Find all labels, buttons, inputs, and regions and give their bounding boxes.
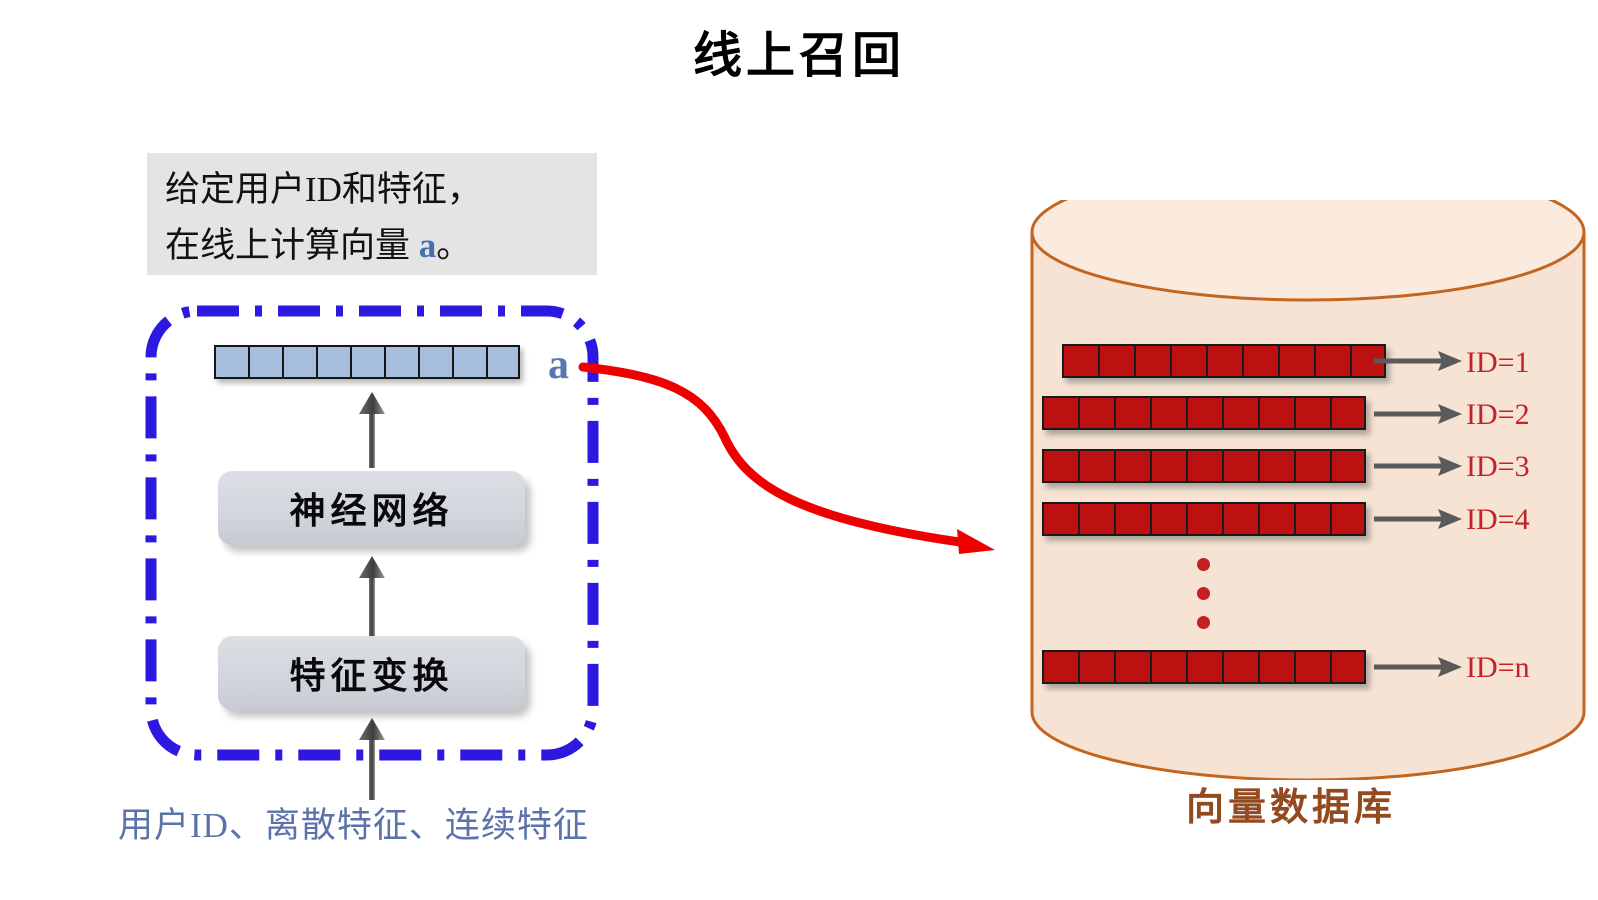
vector-cell xyxy=(1062,344,1098,378)
vector-cell xyxy=(248,345,282,379)
output-vector-label: a xyxy=(548,341,569,389)
vector-cell xyxy=(1222,449,1258,483)
vector-cell xyxy=(1150,396,1186,430)
vector-cell xyxy=(350,345,384,379)
output-vector-a xyxy=(214,345,520,379)
vector-cell xyxy=(1150,449,1186,483)
ellipsis-dot xyxy=(1197,587,1210,600)
feature-transform-label: 特征变换 xyxy=(289,647,453,699)
vector-cell xyxy=(1330,650,1366,684)
vector-cell xyxy=(418,345,452,379)
diagram-canvas: 线上召回 给定用户ID和特征， 在线上计算向量 a。 a xyxy=(0,0,1598,900)
vector-cell xyxy=(1114,396,1150,430)
ellipsis-dot xyxy=(1197,616,1210,629)
vector-cell xyxy=(214,345,248,379)
note-line-2-suffix: 。 xyxy=(436,226,471,265)
vector-cell xyxy=(1078,502,1114,536)
vector-cell xyxy=(1294,449,1330,483)
vector-cell xyxy=(282,345,316,379)
db-row-arrow xyxy=(1374,452,1464,480)
vector-cell xyxy=(1330,502,1366,536)
vector-cell xyxy=(1078,650,1114,684)
db-row-arrow xyxy=(1374,347,1464,375)
db-row-id: ID=3 xyxy=(1466,450,1530,484)
db-vector-row xyxy=(1042,650,1366,684)
vector-cell xyxy=(486,345,520,379)
ellipsis-dot xyxy=(1197,558,1210,571)
arrow-vector-to-database xyxy=(575,340,1005,570)
vector-cell xyxy=(1042,396,1078,430)
note-line-2: 在线上计算向量 a。 xyxy=(165,218,597,274)
vector-cell xyxy=(1042,502,1078,536)
vector-cell xyxy=(1330,449,1366,483)
vector-cell xyxy=(1098,344,1134,378)
vector-cell xyxy=(1150,502,1186,536)
db-row-id: ID=2 xyxy=(1466,398,1530,432)
db-row-id: ID=4 xyxy=(1466,503,1530,537)
vector-cell xyxy=(1186,396,1222,430)
vector-cell xyxy=(1258,650,1294,684)
note-line-2-prefix: 在线上计算向量 xyxy=(165,226,419,265)
vector-cell xyxy=(1186,650,1222,684)
note-vector-symbol: a xyxy=(419,226,437,265)
vector-cell xyxy=(1294,396,1330,430)
explanation-note: 给定用户ID和特征， 在线上计算向量 a。 xyxy=(147,153,597,275)
db-vector-row xyxy=(1042,502,1366,536)
vector-database-cylinder xyxy=(1018,200,1598,780)
vector-cell xyxy=(1150,650,1186,684)
db-rows-ellipsis xyxy=(1197,558,1213,645)
vector-cell xyxy=(1078,449,1114,483)
vector-cell xyxy=(1186,449,1222,483)
neural-network-label: 神经网络 xyxy=(289,482,453,534)
vector-cell xyxy=(1258,502,1294,536)
db-vector-row xyxy=(1042,449,1366,483)
vector-cell xyxy=(1134,344,1170,378)
vector-cell xyxy=(1222,396,1258,430)
db-vector-row xyxy=(1042,396,1366,430)
vector-cell xyxy=(316,345,350,379)
vector-cell xyxy=(1242,344,1278,378)
vector-cell xyxy=(1330,396,1366,430)
vector-cell xyxy=(452,345,486,379)
vector-cell xyxy=(1222,650,1258,684)
vector-cell xyxy=(1258,449,1294,483)
note-line-1: 给定用户ID和特征， xyxy=(165,162,597,218)
db-row-arrow xyxy=(1374,400,1464,428)
feature-transform-box[interactable]: 特征变换 xyxy=(218,636,525,710)
vector-cell xyxy=(1042,650,1078,684)
vector-cell xyxy=(384,345,418,379)
vector-cell xyxy=(1294,650,1330,684)
vector-cell xyxy=(1314,344,1350,378)
vector-cell xyxy=(1078,396,1114,430)
vector-cell xyxy=(1206,344,1242,378)
arrow-nn-to-vector xyxy=(352,392,392,468)
page-title: 线上召回 xyxy=(0,16,1598,87)
vector-cell xyxy=(1042,449,1078,483)
neural-network-box[interactable]: 神经网络 xyxy=(218,471,525,545)
vector-cell xyxy=(1186,502,1222,536)
arrow-input-to-ft xyxy=(352,718,392,800)
vector-cell xyxy=(1170,344,1206,378)
vector-cell xyxy=(1114,502,1150,536)
vector-cell xyxy=(1258,396,1294,430)
vector-cell xyxy=(1222,502,1258,536)
vector-cell xyxy=(1114,650,1150,684)
db-vector-row xyxy=(1062,344,1386,378)
db-row-arrow xyxy=(1374,653,1464,681)
database-caption: 向量数据库 xyxy=(1186,776,1396,831)
vector-cell xyxy=(1114,449,1150,483)
arrow-ft-to-nn xyxy=(352,556,392,638)
db-row-id: ID=n xyxy=(1466,651,1530,685)
vector-cell xyxy=(1278,344,1314,378)
input-features-label: 用户ID、离散特征、连续特征 xyxy=(118,797,589,848)
db-row-arrow xyxy=(1374,505,1464,533)
db-row-id: ID=1 xyxy=(1466,346,1530,380)
vector-cell xyxy=(1294,502,1330,536)
